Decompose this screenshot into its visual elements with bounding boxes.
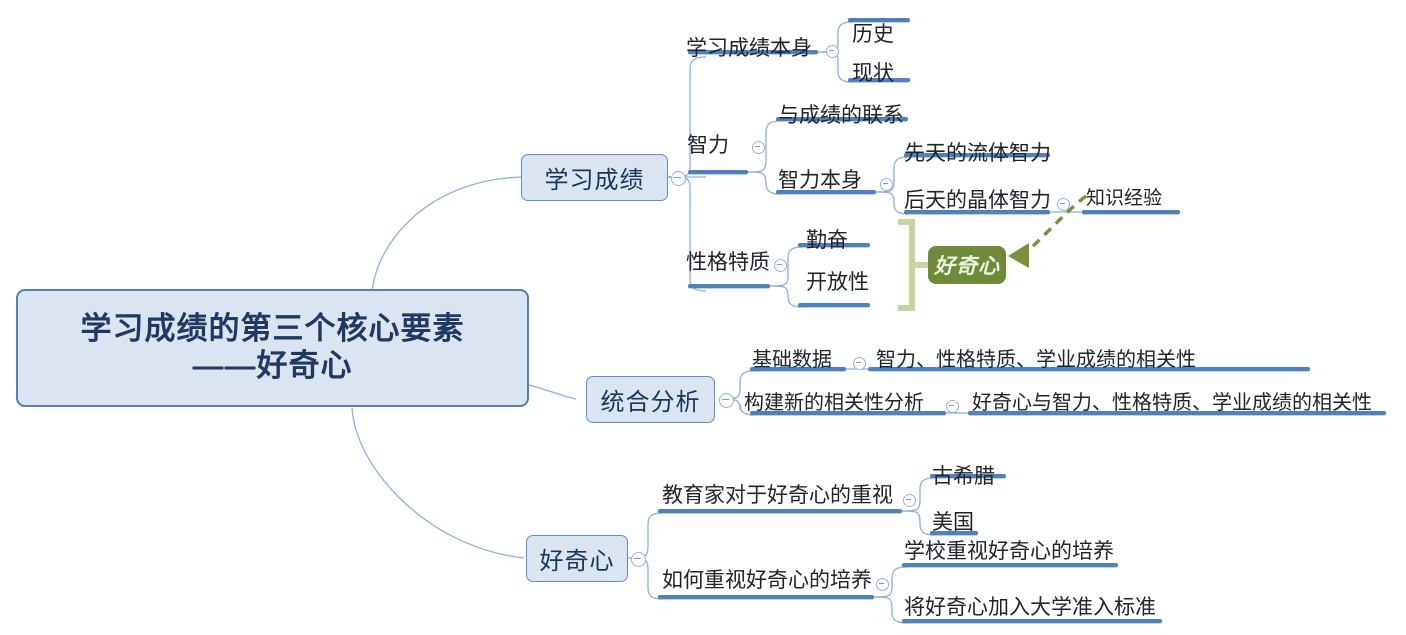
leaf-勤奋[interactable]: 勤奋 [806, 230, 848, 251]
collapse-toggle-智力本身[interactable] [880, 178, 893, 191]
leaf-开放性[interactable]: 开放性 [806, 272, 869, 293]
leaf-如何重视好奇心的培养[interactable]: 如何重视好奇心的培养 [662, 570, 872, 591]
collapse-toggle-构建新的相关性分析[interactable] [946, 400, 959, 413]
leaf-美国[interactable]: 美国 [932, 512, 974, 533]
collapse-toggle-教育家对于好奇心的重视[interactable] [903, 494, 916, 507]
central-title-line1: 学习成绩的第三个核心要素 [81, 311, 465, 348]
collapse-toggle-branch3[interactable] [631, 552, 646, 567]
mindmap-canvas: 学习成绩的第三个核心要素 ——好奇心 学习成绩 统合分析 好奇心 学习成绩本身 … [0, 0, 1406, 635]
highlight-label: 好奇心 [934, 250, 1000, 280]
leaf-古希腊[interactable]: 古希腊 [932, 466, 995, 487]
branch-node-好奇心[interactable]: 好奇心 [526, 535, 628, 582]
collapse-toggle-后天的晶体智力[interactable] [1057, 198, 1070, 211]
leaf-将好奇心加入大学准入标准[interactable]: 将好奇心加入大学准入标准 [904, 597, 1156, 618]
collapse-toggle-智力[interactable] [752, 141, 765, 154]
leaf-学习成绩本身[interactable]: 学习成绩本身 [686, 38, 812, 59]
leaf-智力[interactable]: 智力 [687, 135, 729, 156]
collapse-toggle-学习成绩本身[interactable] [826, 45, 839, 58]
leaf-先天的流体智力[interactable]: 先天的流体智力 [904, 143, 1051, 164]
leaf-性格特质[interactable]: 性格特质 [686, 252, 770, 273]
collapse-toggle-branch1[interactable] [671, 171, 686, 186]
leaf-基础数据[interactable]: 基础数据 [752, 350, 832, 370]
arrow-head [1008, 243, 1029, 268]
leaf-现状[interactable]: 现状 [852, 63, 894, 84]
leaf-智力本身[interactable]: 智力本身 [778, 170, 862, 191]
leaf-历史[interactable]: 历史 [852, 24, 894, 45]
collapse-toggle-如何重视好奇心的培养[interactable] [876, 578, 889, 591]
leaf-与成绩的联系[interactable]: 与成绩的联系 [778, 105, 904, 126]
branch-label: 统合分析 [601, 382, 701, 417]
collapse-toggle-branch2[interactable] [719, 393, 734, 408]
leaf-好奇心与智力性格学业相关性[interactable]: 好奇心与智力、性格特质、学业成绩的相关性 [972, 393, 1372, 413]
green-bracket [898, 222, 930, 308]
central-title-line2: ——好奇心 [81, 348, 465, 385]
leaf-教育家对于好奇心的重视[interactable]: 教育家对于好奇心的重视 [662, 485, 893, 506]
branch-label: 好奇心 [540, 541, 615, 576]
branch-label: 学习成绩 [545, 160, 645, 195]
central-node[interactable]: 学习成绩的第三个核心要素 ——好奇心 [16, 289, 529, 407]
collapse-toggle-性格特质[interactable] [774, 259, 787, 272]
branch-node-学习成绩[interactable]: 学习成绩 [521, 154, 668, 201]
collapse-toggle-基础数据[interactable] [853, 357, 866, 370]
leaf-构建新的相关性分析[interactable]: 构建新的相关性分析 [744, 393, 924, 413]
leaf-知识经验[interactable]: 知识经验 [1086, 189, 1162, 208]
leaf-后天的晶体智力[interactable]: 后天的晶体智力 [904, 190, 1051, 211]
highlight-node-好奇心[interactable]: 好奇心 [928, 246, 1006, 284]
branch-node-统合分析[interactable]: 统合分析 [586, 376, 715, 423]
leaf-智力性格学业相关性[interactable]: 智力、性格特质、学业成绩的相关性 [876, 350, 1196, 370]
leaf-学校重视好奇心的培养[interactable]: 学校重视好奇心的培养 [904, 541, 1114, 562]
